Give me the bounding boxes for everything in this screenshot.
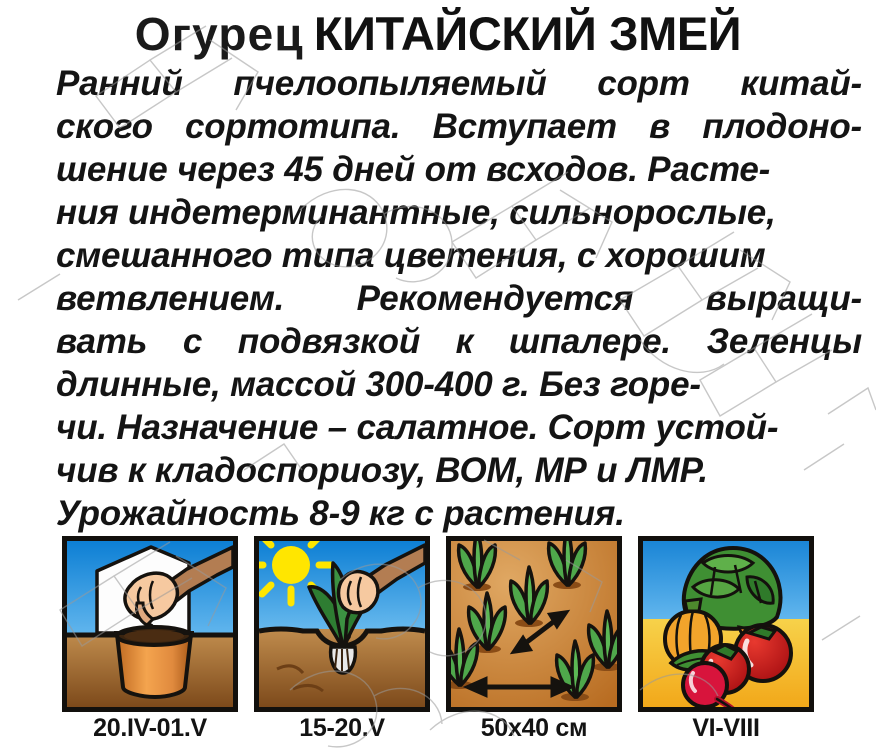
desc-word: пчелоопыляемый <box>233 62 546 105</box>
caption-sowing: 20.IV-01.V <box>62 714 238 743</box>
hand-planting-seedling-icon <box>259 541 425 707</box>
description-line: шение через 45 дней от всходов. Расте- <box>56 148 862 191</box>
harvest-panel <box>638 536 814 712</box>
caption-transplanting: 15-20.V <box>254 714 430 743</box>
desc-word: вать <box>56 320 147 363</box>
desc-word: с <box>183 320 202 363</box>
spacing-panel <box>446 536 622 712</box>
description-line: длинные, массой 300-400 г. Без горе- <box>56 363 862 406</box>
plant-spacing-arrows-icon <box>451 541 617 707</box>
desc-word: плодоно- <box>702 105 862 148</box>
description-line: Урожайность 8-9 кг с растения. <box>56 492 862 535</box>
desc-word: Зеленцы <box>707 320 862 363</box>
sowing-panel <box>62 536 238 712</box>
panel-captions: 20.IV-01.V 15-20.V 50x40 см VI-VIII <box>62 714 814 743</box>
description-line: чив к кладоспориозу, ВОМ, МР и ЛМР. <box>56 449 862 492</box>
desc-word: ветвлением. <box>56 277 284 320</box>
caption-spacing: 50x40 см <box>446 714 622 743</box>
desc-word: китай- <box>740 62 862 105</box>
vegetable-harvest-icon <box>643 541 809 707</box>
desc-word: подвязкой <box>238 320 420 363</box>
desc-word: в <box>649 105 670 148</box>
desc-word: Вступает <box>433 105 617 148</box>
packet-title: ОгурецКИТАЙСКИЙ ЗМЕЙ <box>0 6 876 61</box>
hand-sowing-seed-in-pot-icon <box>67 541 233 707</box>
description-line: вать с подвязкой к шпалере. Зеленцы <box>56 320 862 363</box>
desc-word: сорт <box>597 62 690 105</box>
caption-harvest: VI-VIII <box>638 714 814 743</box>
description-line: чи. Назначение – салатное. Сорт устой- <box>56 406 862 449</box>
desc-word: ского <box>56 105 153 148</box>
description-line: смешанного типа цветения, с хорошим <box>56 234 862 277</box>
pictogram-panels <box>62 536 814 714</box>
desc-word: к <box>456 320 474 363</box>
desc-word: сортотипа. <box>185 105 400 148</box>
crop-label: Огурец <box>135 8 304 60</box>
desc-word: шпалере. <box>509 320 671 363</box>
variety-name: КИТАЙСКИЙ ЗМЕЙ <box>314 7 741 60</box>
description-line: ния индетерминантные, сильнорослые, <box>56 191 862 234</box>
desc-word: Ранний <box>56 62 183 105</box>
description-block: Ранний пчелоопыляемый сорт китай- ского … <box>56 62 862 535</box>
desc-word: Рекомендуется <box>357 277 634 320</box>
description-line: ветвлением. Рекомендуется выращи- <box>56 277 862 320</box>
description-line: ского сортотипа. Вступает в плодоно- <box>56 105 862 148</box>
transplanting-panel <box>254 536 430 712</box>
description-line: Ранний пчелоопыляемый сорт китай- <box>56 62 862 105</box>
desc-word: выращи- <box>706 277 862 320</box>
seed-packet: ОгурецКИТАЙСКИЙ ЗМЕЙ Ранний пчелоопыляем… <box>0 0 876 753</box>
